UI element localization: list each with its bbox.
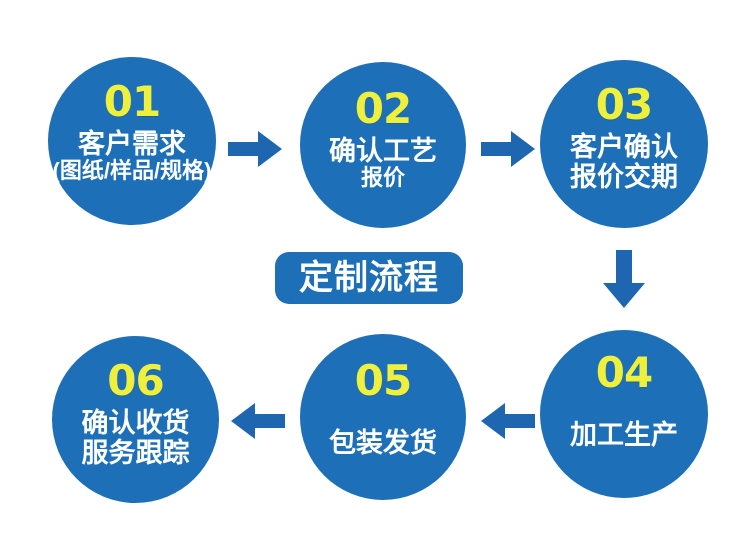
step-label-02-line2: 报价 xyxy=(361,166,405,191)
step-number-03: 03 xyxy=(596,84,652,126)
arrow-04-to-05 xyxy=(481,403,535,439)
step-label-04-line1: 加工生产 xyxy=(570,420,678,450)
step-label-03-line2: 报价交期 xyxy=(570,162,678,192)
step-node-05[interactable]: 05 包装发货 xyxy=(300,334,466,500)
arrow-05-to-06 xyxy=(231,403,285,439)
step-label-01-line1: 客户需求 xyxy=(78,129,186,159)
arrow-01-to-02 xyxy=(228,131,282,167)
step-node-02[interactable]: 02 确认工艺 报价 xyxy=(300,62,466,228)
step-number-06: 06 xyxy=(107,360,163,402)
flowchart-title-text: 定制流程 xyxy=(299,261,439,295)
step-node-04[interactable]: 04 加工生产 xyxy=(540,330,708,498)
step-label-05-line1: 包装发货 xyxy=(329,428,437,458)
flowchart-title-badge: 定制流程 xyxy=(275,252,463,304)
step-number-02: 02 xyxy=(355,88,411,130)
step-node-06[interactable]: 06 确认收货 服务跟踪 xyxy=(52,336,219,503)
step-number-05: 05 xyxy=(355,360,411,402)
step-label-01-line2: (图纸/样品/规格) xyxy=(53,159,212,184)
step-label-06-line2: 服务跟踪 xyxy=(82,438,190,468)
step-node-03[interactable]: 03 客户确认 报价交期 xyxy=(540,60,708,228)
step-label-03-line1: 客户确认 xyxy=(570,132,678,162)
step-number-04: 04 xyxy=(596,352,652,394)
step-label-02-line1: 确认工艺 xyxy=(329,136,437,166)
arrow-03-to-04 xyxy=(603,250,645,308)
arrow-02-to-03 xyxy=(481,131,535,167)
step-node-01[interactable]: 01 客户需求 (图纸/样品/规格) xyxy=(48,57,216,225)
flowchart-canvas: 01 客户需求 (图纸/样品/规格) 02 确认工艺 报价 03 客户确认 报价… xyxy=(0,0,750,548)
step-number-01: 01 xyxy=(104,81,160,123)
step-label-06-line1: 确认收货 xyxy=(82,408,190,438)
